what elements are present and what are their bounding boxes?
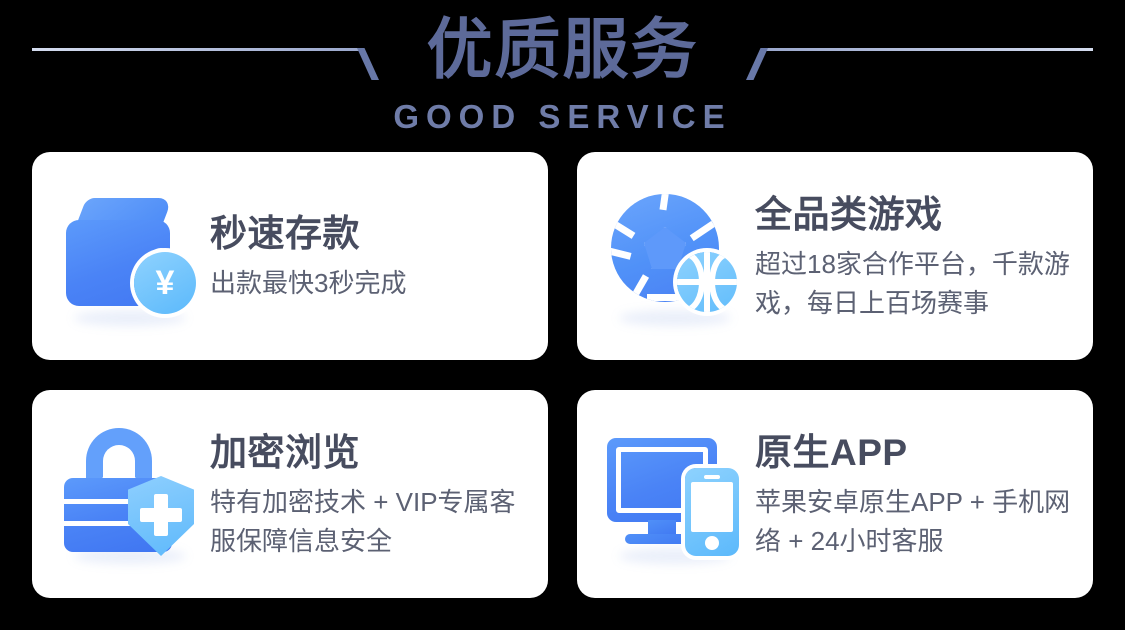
feature-card-native-app[interactable]: 原生APP 苹果安卓原生APP + 手机网络 + 24小时客服	[577, 390, 1093, 598]
feature-card-text: 加密浏览 特有加密技术 + VIP专属客服保障信息安全	[204, 428, 548, 561]
phone-icon	[685, 468, 739, 556]
feature-title: 加密浏览	[210, 428, 534, 478]
icon-shadow	[619, 310, 731, 326]
promo-page: 优质服务 GOOD SERVICE ¥ 秒速存款 出款最快3秒完成	[0, 0, 1125, 630]
basketball-line	[677, 279, 737, 285]
feature-card-grid: ¥ 秒速存款 出款最快3秒完成	[32, 152, 1093, 598]
feature-title: 全品类游戏	[755, 190, 1079, 240]
lock-shield-icon	[56, 420, 204, 568]
page-subtitle: GOOD SERVICE	[0, 98, 1125, 136]
soccer-seam	[690, 221, 715, 241]
plus-icon	[140, 508, 182, 522]
feature-card-text: 秒速存款 出款最快3秒完成	[204, 209, 548, 303]
feature-card-text: 全品类游戏 超过18家合作平台，千款游戏，每日上百场赛事	[749, 190, 1093, 323]
soccer-seam	[611, 219, 635, 239]
page-header: 优质服务 GOOD SERVICE	[0, 0, 1125, 150]
phone-speaker	[704, 475, 720, 479]
soccer-seam	[660, 194, 670, 210]
yen-coin-icon: ¥	[134, 252, 196, 314]
page-title: 优质服务	[0, 6, 1125, 92]
monitor-phone-icon	[601, 420, 749, 568]
feature-description: 超过18家合作平台，千款游戏，每日上百场赛事	[755, 245, 1079, 323]
wallet-yen-icon: ¥	[56, 182, 204, 330]
phone-screen	[691, 482, 733, 532]
soccer-seam	[628, 274, 649, 302]
phone-home-button	[705, 536, 719, 550]
soccer-seam	[611, 247, 631, 260]
feature-card-games[interactable]: 全品类游戏 超过18家合作平台，千款游戏，每日上百场赛事	[577, 152, 1093, 360]
feature-title: 秒速存款	[210, 209, 534, 259]
feature-description: 特有加密技术 + VIP专属客服保障信息安全	[210, 483, 534, 561]
feature-description: 出款最快3秒完成	[210, 264, 534, 303]
feature-title: 原生APP	[755, 428, 1079, 478]
soccer-basketball-icon	[601, 182, 749, 330]
basketball-icon	[677, 252, 737, 312]
feature-card-text: 原生APP 苹果安卓原生APP + 手机网络 + 24小时客服	[749, 428, 1093, 561]
feature-description: 苹果安卓原生APP + 手机网络 + 24小时客服	[755, 483, 1079, 561]
feature-card-deposit[interactable]: ¥ 秒速存款 出款最快3秒完成	[32, 152, 548, 360]
feature-card-encryption[interactable]: 加密浏览 特有加密技术 + VIP专属客服保障信息安全	[32, 390, 548, 598]
